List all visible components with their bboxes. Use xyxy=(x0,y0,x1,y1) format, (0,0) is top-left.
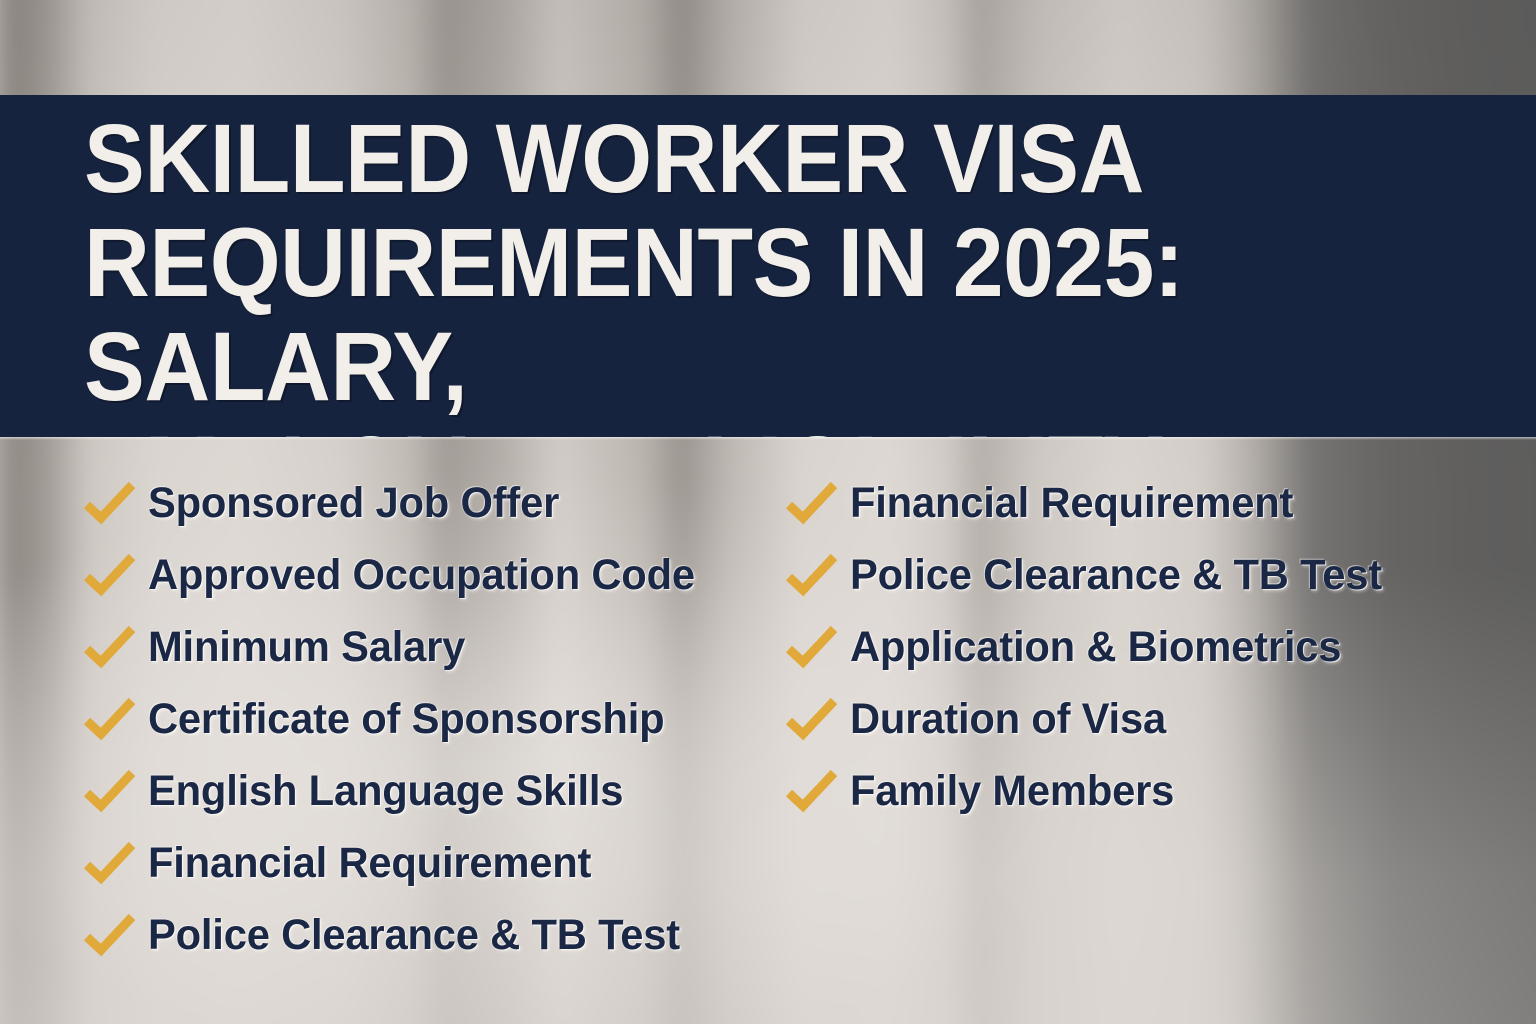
checklist-item-label: Minimum Salary xyxy=(148,626,465,669)
checklist-item-label: Family Members xyxy=(850,770,1174,813)
check-mark-icon xyxy=(84,767,136,815)
checklist-item: Police Clearance & TB Test xyxy=(84,899,784,971)
check-mark-icon xyxy=(84,911,136,959)
check-mark-icon xyxy=(786,695,838,743)
checklist-item: Minimum Salary xyxy=(84,611,784,683)
requirements-checklist: Sponsored Job OfferApproved Occupation C… xyxy=(0,437,1536,1024)
checklist-item-label: Certificate of Sponsorship xyxy=(148,698,664,741)
checklist-item: Financial Requirement xyxy=(84,827,784,899)
checklist-item-label: Police Clearance & TB Test xyxy=(148,914,680,957)
checklist-item: Approved Occupation Code xyxy=(84,539,784,611)
checklist-item: Certificate of Sponsorship xyxy=(84,683,784,755)
checklist-right-list: Financial RequirementPolice Clearance & … xyxy=(786,467,1506,827)
checklist-item-label: Financial Requirement xyxy=(148,842,591,885)
checklist-item-label: Application & Biometrics xyxy=(850,626,1341,669)
visa-requirements-poster: SKILLED WORKER VISA REQUIREMENTS IN 2025… xyxy=(0,0,1536,1024)
title-banner: SKILLED WORKER VISA REQUIREMENTS IN 2025… xyxy=(0,95,1536,437)
checklist-item-label: Duration of Visa xyxy=(850,698,1166,741)
check-mark-icon xyxy=(786,767,838,815)
page-title: SKILLED WORKER VISA REQUIREMENTS IN 2025… xyxy=(84,107,1536,437)
checklist-item-label: Financial Requirement xyxy=(850,482,1293,525)
checklist-item: Application & Biometrics xyxy=(786,611,1506,683)
check-mark-icon xyxy=(84,479,136,527)
checklist-item: Duration of Visa xyxy=(786,683,1506,755)
checklist-item: Police Clearance & TB Test xyxy=(786,539,1506,611)
checklist-left-column: Sponsored Job OfferApproved Occupation C… xyxy=(84,467,784,971)
check-mark-icon xyxy=(786,623,838,671)
check-mark-icon xyxy=(786,479,838,527)
checklist-item: English Language Skills xyxy=(84,755,784,827)
checklist-item-label: Approved Occupation Code xyxy=(148,554,695,597)
check-mark-icon xyxy=(84,695,136,743)
check-mark-icon xyxy=(786,551,838,599)
checklist-right-column: Financial RequirementPolice Clearance & … xyxy=(786,467,1506,827)
checklist-item-label: English Language Skills xyxy=(148,770,623,813)
checklist-item: Financial Requirement xyxy=(786,467,1506,539)
check-mark-icon xyxy=(84,623,136,671)
checklist-item: Sponsored Job Offer xyxy=(84,467,784,539)
checklist-item: Family Members xyxy=(786,755,1506,827)
checklist-item-label: Sponsored Job Offer xyxy=(148,482,559,525)
check-mark-icon xyxy=(84,551,136,599)
check-mark-icon xyxy=(84,839,136,887)
checklist-item-label: Police Clearance & TB Test xyxy=(850,554,1382,597)
checklist-left-list: Sponsored Job OfferApproved Occupation C… xyxy=(84,467,784,971)
